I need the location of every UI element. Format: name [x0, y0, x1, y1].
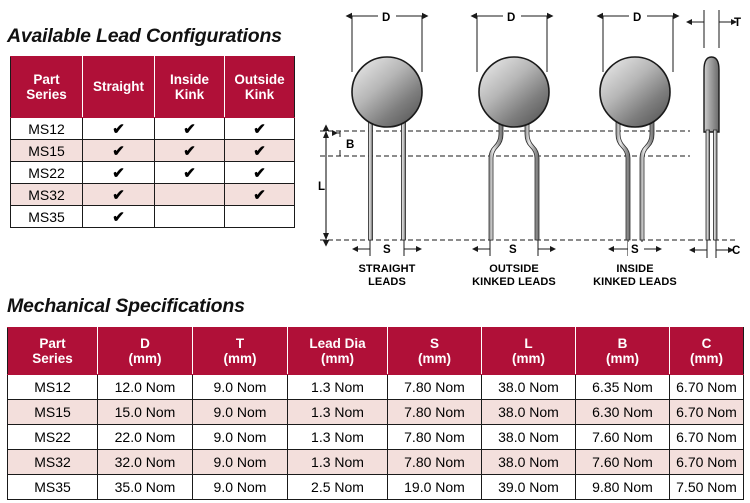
dimension-label-d: D	[633, 12, 641, 24]
column-header-line1: Part	[10, 336, 95, 351]
cell-c: 6.70 Nom	[670, 400, 744, 425]
column-header-s: S (mm)	[388, 328, 482, 375]
column-header-line1: L	[484, 336, 573, 351]
table-row: MS3535.0 Nom9.0 Nom2.5 Nom19.0 Nom39.0 N…	[8, 475, 744, 500]
cell-s: 19.0 Nom	[388, 475, 482, 500]
cell-d: 22.0 Nom	[98, 425, 193, 450]
cell-lead-dia: 1.3 Nom	[288, 425, 388, 450]
cell-l: 38.0 Nom	[482, 425, 576, 450]
cell-t: 9.0 Nom	[193, 475, 288, 500]
cell-part-series: MS22	[8, 425, 98, 450]
figure-caption-line2: KINKED LEADS	[593, 276, 677, 288]
cell-c: 6.70 Nom	[670, 425, 744, 450]
dimension-l: L	[318, 131, 329, 240]
cell-inside-kink: ✔	[155, 140, 225, 162]
cell-d: 12.0 Nom	[98, 375, 193, 400]
dimension-label-t: T	[734, 17, 741, 29]
figure-caption-line1: STRAIGHT	[358, 263, 415, 275]
checkmark-icon: ✔	[183, 165, 196, 182]
leads-outside-kinked	[489, 118, 539, 240]
cell-inside-kink: ✔	[155, 118, 225, 140]
cell-t: 9.0 Nom	[193, 450, 288, 475]
cell-straight: ✔	[83, 118, 155, 140]
cell-lead-dia: 1.3 Nom	[288, 375, 388, 400]
column-header-line1: Inside	[157, 72, 222, 87]
cell-s: 7.80 Nom	[388, 425, 482, 450]
dimension-label-d: D	[507, 12, 515, 24]
cell-outside-kink: ✔	[225, 184, 295, 206]
cell-outside-kink: ✔	[225, 162, 295, 184]
page-title-mechanical-specifications: Mechanical Specifications	[7, 295, 245, 318]
figure-caption-line2: KINKED LEADS	[472, 276, 556, 288]
cell-straight: ✔	[83, 184, 155, 206]
column-header-line1: D	[100, 336, 190, 351]
cell-t: 9.0 Nom	[193, 400, 288, 425]
lead-configurations-body: MS12✔✔✔MS15✔✔✔MS22✔✔✔MS32✔✔MS35✔	[11, 118, 295, 228]
dimension-label-s: S	[509, 244, 517, 256]
mechanical-specifications-body: MS1212.0 Nom9.0 Nom1.3 Nom7.80 Nom38.0 N…	[8, 375, 744, 500]
checkmark-icon: ✔	[253, 143, 266, 160]
cell-t: 9.0 Nom	[193, 375, 288, 400]
column-header-line1: T	[195, 336, 285, 351]
figure-inside-kinked-leads: D S INSIDE KINKED LEADS	[593, 8, 677, 288]
cell-part-series: MS15	[11, 140, 83, 162]
figure-straight-leads: D S STRAIGHT LEADS	[352, 8, 422, 288]
table-header-row: Part Series Straight Inside Kink Outside…	[11, 57, 295, 118]
cell-part-series: MS15	[8, 400, 98, 425]
checkmark-icon: ✔	[112, 165, 125, 182]
leads-side-view	[706, 130, 717, 240]
column-header-line1: B	[578, 336, 667, 351]
dimension-label-c: C	[732, 245, 740, 257]
cell-lead-dia: 1.3 Nom	[288, 450, 388, 475]
column-header-line2: Kink	[227, 87, 292, 102]
column-header-line2: (mm)	[484, 351, 573, 366]
figure-side-view: T C	[692, 10, 741, 258]
column-header-line2: Series	[10, 351, 95, 366]
cell-inside-kink: ✔	[155, 162, 225, 184]
cell-inside-kink	[155, 184, 225, 206]
cell-t: 9.0 Nom	[193, 425, 288, 450]
table-row: MS1515.0 Nom9.0 Nom1.3 Nom7.80 Nom38.0 N…	[8, 400, 744, 425]
column-header-lead-dia: Lead Dia (mm)	[288, 328, 388, 375]
cell-part-series: MS35	[8, 475, 98, 500]
column-header-c: C (mm)	[670, 328, 744, 375]
checkmark-icon: ✔	[253, 121, 266, 138]
figure-outside-kinked-leads: D S OUTSIDE KINKED LEADS	[472, 8, 556, 288]
table-row: MS12✔✔✔	[11, 118, 295, 140]
column-header-line2: (mm)	[578, 351, 667, 366]
leads-inside-kinked	[616, 118, 654, 240]
cell-s: 7.80 Nom	[388, 450, 482, 475]
column-header-line2: (mm)	[672, 351, 741, 366]
column-header-line1: C	[672, 336, 741, 351]
mechanical-specifications-table: Part Series D (mm) T (mm) Lead Dia (mm) …	[7, 327, 744, 500]
column-header-line2: (mm)	[195, 351, 285, 366]
figure-caption-line1: INSIDE	[616, 263, 653, 275]
lead-configurations-table: Part Series Straight Inside Kink Outside…	[10, 56, 295, 228]
cell-straight: ✔	[83, 206, 155, 228]
cell-outside-kink: ✔	[225, 118, 295, 140]
column-header-t: T (mm)	[193, 328, 288, 375]
cell-part-series: MS32	[8, 450, 98, 475]
table-row: MS35✔	[11, 206, 295, 228]
checkmark-icon: ✔	[253, 187, 266, 204]
checkmark-icon: ✔	[183, 143, 196, 160]
cell-d: 15.0 Nom	[98, 400, 193, 425]
cell-part-series: MS12	[8, 375, 98, 400]
table-header-row: Part Series D (mm) T (mm) Lead Dia (mm) …	[8, 328, 744, 375]
cell-c: 6.70 Nom	[670, 375, 744, 400]
dimension-c: C	[695, 240, 740, 258]
cell-c: 7.50 Nom	[670, 475, 744, 500]
dimension-s-inside: S	[614, 240, 656, 256]
cell-part-series: MS22	[11, 162, 83, 184]
cell-b: 7.60 Nom	[576, 450, 670, 475]
cell-l: 39.0 Nom	[482, 475, 576, 500]
dimension-label-b: B	[346, 139, 354, 151]
page-title-lead-configurations: Available Lead Configurations	[7, 25, 282, 48]
figure-caption-line1: OUTSIDE	[489, 263, 539, 275]
column-header-line2: (mm)	[390, 351, 479, 366]
cell-lead-dia: 1.3 Nom	[288, 400, 388, 425]
checkmark-icon: ✔	[112, 209, 125, 226]
column-header-line2: Series	[13, 87, 80, 102]
cell-l: 38.0 Nom	[482, 375, 576, 400]
column-header-part-series: Part Series	[8, 328, 98, 375]
reference-lines	[320, 131, 690, 240]
column-header-outside-kink: Outside Kink	[225, 57, 295, 118]
column-header-line2: Kink	[157, 87, 222, 102]
cell-part-series: MS32	[11, 184, 83, 206]
column-header-line2: (mm)	[100, 351, 190, 366]
cell-s: 7.80 Nom	[388, 400, 482, 425]
thermistor-disc-body	[600, 57, 670, 127]
thermistor-side-profile	[704, 57, 719, 132]
cell-straight: ✔	[83, 140, 155, 162]
column-header-part-series: Part Series	[11, 57, 83, 118]
leads-straight	[369, 118, 406, 240]
table-row: MS2222.0 Nom9.0 Nom1.3 Nom7.80 Nom38.0 N…	[8, 425, 744, 450]
cell-d: 32.0 Nom	[98, 450, 193, 475]
cell-lead-dia: 2.5 Nom	[288, 475, 388, 500]
checkmark-icon: ✔	[112, 121, 125, 138]
cell-b: 9.80 Nom	[576, 475, 670, 500]
component-drawings-panel: B L D	[318, 0, 750, 292]
dimension-label-l: L	[318, 181, 325, 193]
column-header-line1: S	[390, 336, 479, 351]
cell-b: 6.30 Nom	[576, 400, 670, 425]
dimension-s-straight: S	[358, 240, 416, 256]
dimension-t: T	[692, 10, 741, 48]
dimension-label-d: D	[382, 12, 390, 24]
cell-l: 38.0 Nom	[482, 400, 576, 425]
table-row: MS1212.0 Nom9.0 Nom1.3 Nom7.80 Nom38.0 N…	[8, 375, 744, 400]
checkmark-icon: ✔	[183, 121, 196, 138]
column-header-line2: (mm)	[290, 351, 385, 366]
cell-straight: ✔	[83, 162, 155, 184]
column-header-b: B (mm)	[576, 328, 670, 375]
column-header-line1: Part	[13, 72, 80, 87]
cell-part-series: MS12	[11, 118, 83, 140]
dimension-b: B	[332, 131, 354, 156]
column-header-inside-kink: Inside Kink	[155, 57, 225, 118]
figure-caption-line2: LEADS	[368, 276, 406, 288]
checkmark-icon: ✔	[112, 143, 125, 160]
cell-s: 7.80 Nom	[388, 375, 482, 400]
cell-part-series: MS35	[11, 206, 83, 228]
cell-b: 7.60 Nom	[576, 425, 670, 450]
table-row: MS22✔✔✔	[11, 162, 295, 184]
cell-outside-kink	[225, 206, 295, 228]
column-header-line1: Straight	[85, 79, 152, 94]
cell-c: 6.70 Nom	[670, 450, 744, 475]
cell-d: 35.0 Nom	[98, 475, 193, 500]
column-header-d: D (mm)	[98, 328, 193, 375]
cell-outside-kink: ✔	[225, 140, 295, 162]
column-header-line1: Outside	[227, 72, 292, 87]
checkmark-icon: ✔	[253, 165, 266, 182]
table-row: MS32✔✔	[11, 184, 295, 206]
cell-l: 38.0 Nom	[482, 450, 576, 475]
column-header-straight: Straight	[83, 57, 155, 118]
column-header-l: L (mm)	[482, 328, 576, 375]
thermistor-disc-body	[479, 57, 549, 127]
cell-b: 6.35 Nom	[576, 375, 670, 400]
column-header-line1: Lead Dia	[290, 336, 385, 351]
checkmark-icon: ✔	[112, 187, 125, 204]
dimension-s-outside: S	[478, 240, 550, 256]
dimension-label-s: S	[383, 244, 391, 256]
thermistor-disc-body	[352, 57, 422, 127]
table-row: MS15✔✔✔	[11, 140, 295, 162]
dimension-label-s: S	[631, 244, 639, 256]
cell-inside-kink	[155, 206, 225, 228]
table-row: MS3232.0 Nom9.0 Nom1.3 Nom7.80 Nom38.0 N…	[8, 450, 744, 475]
